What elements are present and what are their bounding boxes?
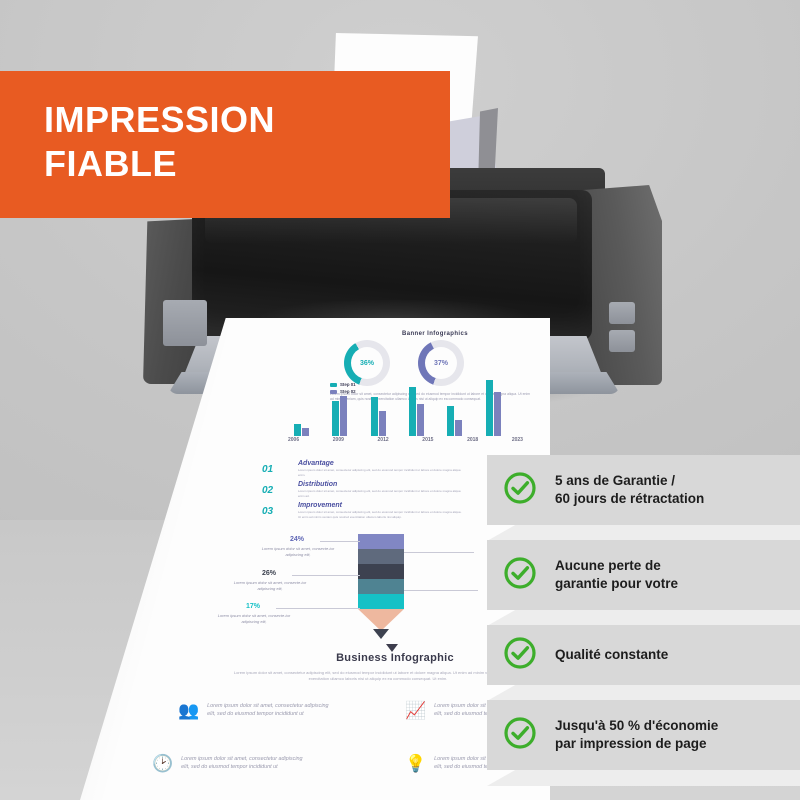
feature-callout-1[interactable]: 5 ans de Garantie / 60 jours de rétracta… bbox=[487, 455, 800, 525]
callout-line-2: garantie pour votre bbox=[555, 575, 678, 593]
callout-line-1: Qualité constante bbox=[555, 646, 668, 664]
callout-text: Qualité constante bbox=[555, 646, 668, 664]
printer-button-left[interactable] bbox=[163, 300, 207, 346]
poster-canvas: Banner Infographics 36% 37% Lorem ipsum … bbox=[0, 0, 800, 800]
printer-button-right-upper[interactable] bbox=[609, 302, 635, 324]
callout-line-1: 5 ans de Garantie / bbox=[555, 472, 704, 490]
callout-notch bbox=[487, 770, 800, 786]
feature-callout-2[interactable]: Aucune perte de garantie pour votre bbox=[487, 540, 800, 610]
headline-line-2: FIABLE bbox=[44, 142, 424, 186]
callout-notch bbox=[487, 525, 800, 541]
callout-text: Jusqu'à 50 % d'économie par impression d… bbox=[555, 717, 718, 753]
callout-notch bbox=[487, 685, 800, 701]
callout-line-2: par impression de page bbox=[555, 735, 718, 753]
callout-notch bbox=[487, 610, 800, 626]
check-circle-icon bbox=[503, 471, 537, 510]
check-circle-icon bbox=[503, 716, 537, 755]
callout-text: 5 ans de Garantie / 60 jours de rétracta… bbox=[555, 472, 704, 508]
headline-text: IMPRESSION FIABLE bbox=[44, 98, 424, 186]
callout-text: Aucune perte de garantie pour votre bbox=[555, 557, 678, 593]
printer-button-right-lower[interactable] bbox=[609, 330, 635, 352]
feature-callout-3[interactable]: Qualité constante bbox=[487, 625, 800, 685]
feature-callout-4[interactable]: Jusqu'à 50 % d'économie par impression d… bbox=[487, 700, 800, 770]
headline-line-1: IMPRESSION bbox=[44, 98, 424, 142]
callout-line-1: Aucune perte de bbox=[555, 557, 678, 575]
check-circle-icon bbox=[503, 636, 537, 675]
check-circle-icon bbox=[503, 556, 537, 595]
callout-line-1: Jusqu'à 50 % d'économie bbox=[555, 717, 718, 735]
callout-line-2: 60 jours de rétractation bbox=[555, 490, 704, 508]
